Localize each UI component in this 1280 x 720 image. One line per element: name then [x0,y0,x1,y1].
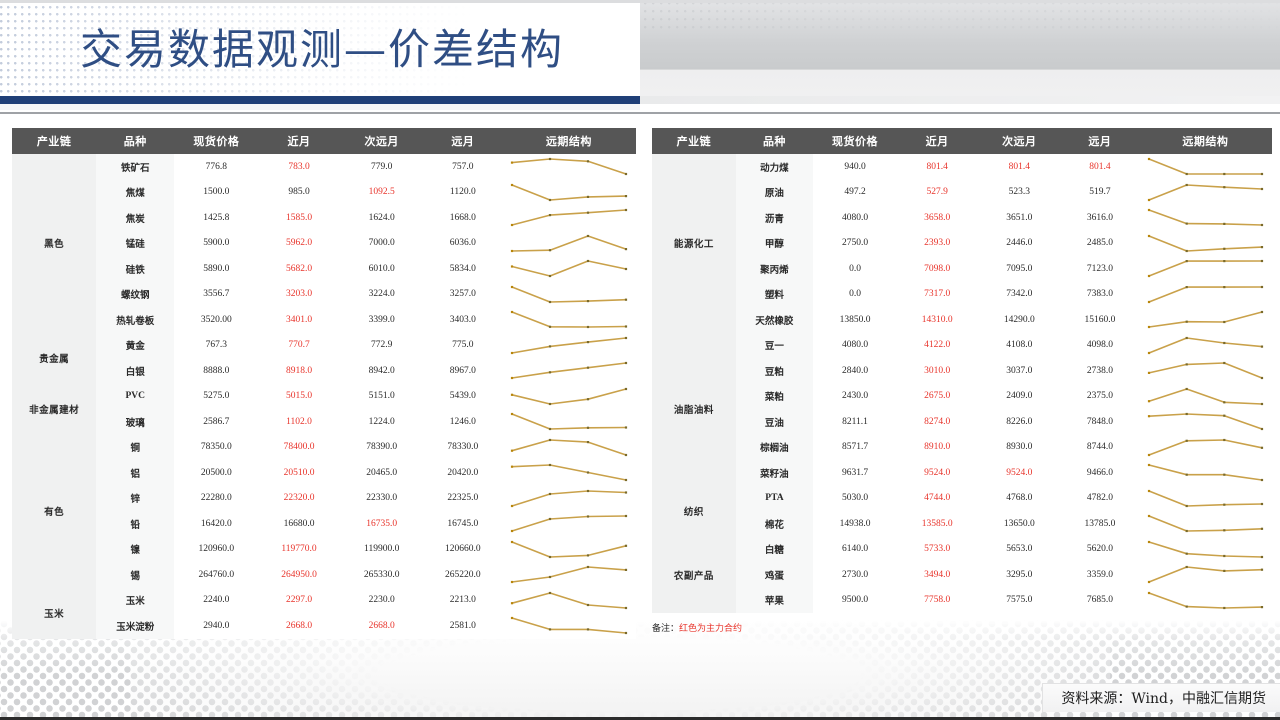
variety-cell: 玻璃 [96,409,174,435]
next-far-month-cell: 265330.0 [340,562,424,588]
forward-structure-sparkline [502,588,636,614]
far-month-cell: 3403.0 [424,307,502,333]
forward-structure-sparkline [1139,205,1272,231]
variety-cell: 玉米淀粉 [96,613,174,639]
far-month-cell: 78330.0 [424,435,502,461]
far-month-cell: 9466.0 [1061,460,1139,486]
table-row: 有色铜78350.078400.078390.078330.0 [12,435,636,461]
column-header-1: 品种 [736,128,814,154]
near-month-cell: 5015.0 [258,384,339,410]
next-far-month-cell: 5653.0 [977,537,1061,563]
variety-cell: 甲醇 [736,231,814,257]
spot-price-cell: 0.0 [813,282,897,308]
forward-structure-sparkline [502,613,636,639]
forward-structure-sparkline [502,562,636,588]
spot-price-cell: 3520.00 [174,307,258,333]
next-far-month-cell: 4768.0 [977,486,1061,512]
forward-structure-sparkline [502,256,636,282]
table-row: 焦煤1500.0985.01092.51120.0 [12,180,636,206]
next-far-month-cell: 7095.0 [977,256,1061,282]
table-row: 非金属建材PVC5275.05015.05151.05439.0 [12,384,636,410]
forward-structure-sparkline [502,358,636,384]
table-row: 玉米淀粉2940.02668.02668.02581.0 [12,613,636,639]
table-body-left: 黑色铁矿石776.8783.0779.0757.0焦煤1500.0985.010… [12,154,636,639]
right-price-table-panel: 产业链品种现货价格近月次远月远月远期结构 能源化工动力煤940.0801.480… [652,128,1272,613]
page-title: 交易数据观测—价差结构 [80,26,564,74]
table-row: 棕榈油8571.78910.08930.08744.0 [652,435,1272,461]
near-month-cell: 13585.0 [897,511,978,537]
near-month-cell: 985.0 [258,180,339,206]
far-month-cell: 5620.0 [1061,537,1139,563]
header-bottom-rule [0,112,1280,114]
next-far-month-cell: 2446.0 [977,231,1061,257]
far-month-cell: 7848.0 [1061,409,1139,435]
near-month-cell: 4744.0 [897,486,978,512]
variety-cell: 硅铁 [96,256,174,282]
near-month-cell: 3203.0 [258,282,339,308]
next-far-month-cell: 78390.0 [340,435,424,461]
spot-price-cell: 3556.7 [174,282,258,308]
spot-price-cell: 16420.0 [174,511,258,537]
column-header-5: 远月 [1061,128,1139,154]
near-month-cell: 8910.0 [897,435,978,461]
forward-structure-sparkline [1139,511,1272,537]
column-header-6: 远期结构 [1139,128,1272,154]
next-far-month-cell: 1092.5 [340,180,424,206]
forward-structure-sparkline [1139,282,1272,308]
near-month-cell: 527.9 [897,180,978,206]
variety-cell: 镍 [96,537,174,563]
forward-structure-sparkline [1139,256,1272,282]
far-month-cell: 265220.0 [424,562,502,588]
footnote-prefix: 备注： [652,623,679,633]
forward-structure-sparkline [1139,384,1272,410]
spot-price-cell: 497.2 [813,180,897,206]
variety-cell: 豆油 [736,409,814,435]
far-month-cell: 2738.0 [1061,358,1139,384]
table-row: 焦炭1425.81585.01624.01668.0 [12,205,636,231]
table-footnote: 备注：红色为主力合约 [652,621,742,634]
spot-price-cell: 2750.0 [813,231,897,257]
table-row: 白银8888.08918.08942.08967.0 [12,358,636,384]
next-far-month-cell: 8226.0 [977,409,1061,435]
column-header-3: 近月 [897,128,978,154]
variety-cell: 豆粕 [736,358,814,384]
industry-chain-cell: 能源化工 [652,154,736,333]
forward-structure-sparkline [502,180,636,206]
far-month-cell: 8744.0 [1061,435,1139,461]
far-month-cell: 5439.0 [424,384,502,410]
table-row: 热轧卷板3520.003401.03399.03403.0 [12,307,636,333]
far-month-cell: 22325.0 [424,486,502,512]
forward-structure-sparkline [502,205,636,231]
next-far-month-cell: 2230.0 [340,588,424,614]
table-row: 原油497.2527.9523.3519.7 [652,180,1272,206]
table-head-right: 产业链品种现货价格近月次远月远月远期结构 [652,128,1272,154]
next-far-month-cell: 3651.0 [977,205,1061,231]
forward-structure-sparkline [1139,154,1272,180]
table-row: 豆油8211.18274.08226.07848.0 [652,409,1272,435]
source-citation: 资料来源：Wind，中融汇信期货 [1042,683,1280,712]
next-far-month-cell: 801.4 [977,154,1061,180]
table-row: 油脂油料豆一4080.04122.04108.04098.0 [652,333,1272,359]
next-far-month-cell: 779.0 [340,154,424,180]
spot-price-cell: 5890.0 [174,256,258,282]
variety-cell: 菜粕 [736,384,814,410]
near-month-cell: 22320.0 [258,486,339,512]
next-far-month-cell: 6010.0 [340,256,424,282]
column-header-1: 品种 [96,128,174,154]
far-month-cell: 2375.0 [1061,384,1139,410]
price-structure-table-left: 产业链品种现货价格近月次远月远月远期结构 黑色铁矿石776.8783.0779.… [12,128,636,639]
near-month-cell: 2297.0 [258,588,339,614]
table-row: 天然橡胶13850.014310.014290.015160.0 [652,307,1272,333]
variety-cell: 菜籽油 [736,460,814,486]
variety-cell: 锡 [96,562,174,588]
variety-cell: 铜 [96,435,174,461]
near-month-cell: 3010.0 [897,358,978,384]
table-row: 黑色铁矿石776.8783.0779.0757.0 [12,154,636,180]
price-structure-table-right: 产业链品种现货价格近月次远月远月远期结构 能源化工动力煤940.0801.480… [652,128,1272,613]
far-month-cell: 2213.0 [424,588,502,614]
forward-structure-sparkline [1139,180,1272,206]
spot-price-cell: 2430.0 [813,384,897,410]
column-header-2: 现货价格 [813,128,897,154]
next-far-month-cell: 22330.0 [340,486,424,512]
next-far-month-cell: 3399.0 [340,307,424,333]
variety-cell: PVC [96,384,174,410]
next-far-month-cell: 523.3 [977,180,1061,206]
spot-price-cell: 940.0 [813,154,897,180]
forward-structure-sparkline [1139,409,1272,435]
near-month-cell: 3658.0 [897,205,978,231]
variety-cell: 铁矿石 [96,154,174,180]
forward-structure-sparkline [1139,486,1272,512]
far-month-cell: 1120.0 [424,180,502,206]
spot-price-cell: 78350.0 [174,435,258,461]
forward-structure-sparkline [1139,231,1272,257]
spot-price-cell: 2240.0 [174,588,258,614]
variety-cell: 原油 [736,180,814,206]
variety-cell: 豆一 [736,333,814,359]
slide-canvas: 交易数据观测—价差结构 产业链品种现货价格近月次远月远月远期结构 黑色铁矿石77… [0,0,1280,720]
forward-structure-sparkline [1139,537,1272,563]
forward-structure-sparkline [502,511,636,537]
variety-cell: 苹果 [736,588,814,614]
table-row: 能源化工动力煤940.0801.4801.4801.4 [652,154,1272,180]
far-month-cell: 3257.0 [424,282,502,308]
far-month-cell: 8967.0 [424,358,502,384]
forward-structure-sparkline [502,307,636,333]
table-head-left: 产业链品种现货价格近月次远月远月远期结构 [12,128,636,154]
near-month-cell: 5733.0 [897,537,978,563]
table-row: 镍120960.0119770.0119900.0120660.0 [12,537,636,563]
column-header-2: 现货价格 [174,128,258,154]
next-far-month-cell: 16735.0 [340,511,424,537]
table-row: 锡264760.0264950.0265330.0265220.0 [12,562,636,588]
variety-cell: 白银 [96,358,174,384]
table-row: 农副产品白糖6140.05733.05653.05620.0 [652,537,1272,563]
table-header-row: 产业链品种现货价格近月次远月远月远期结构 [652,128,1272,154]
next-far-month-cell: 14290.0 [977,307,1061,333]
forward-structure-sparkline [502,537,636,563]
far-month-cell: 16745.0 [424,511,502,537]
column-header-3: 近月 [258,128,339,154]
table-header-row: 产业链品种现货价格近月次远月远月远期结构 [12,128,636,154]
forward-structure-sparkline [1139,358,1272,384]
spot-price-cell: 2840.0 [813,358,897,384]
spot-price-cell: 2940.0 [174,613,258,639]
title-accent-bar-right [640,96,1280,104]
near-month-cell: 7098.0 [897,256,978,282]
far-month-cell: 3359.0 [1061,562,1139,588]
column-header-5: 远月 [424,128,502,154]
footnote-red-text: 红色为主力合约 [679,623,742,633]
industry-chain-cell: 有色 [12,435,96,588]
far-month-cell: 13785.0 [1061,511,1139,537]
variety-cell: 螺纹钢 [96,282,174,308]
next-far-month-cell: 3037.0 [977,358,1061,384]
near-month-cell: 3494.0 [897,562,978,588]
far-month-cell: 7123.0 [1061,256,1139,282]
near-month-cell: 4122.0 [897,333,978,359]
forward-structure-sparkline [1139,435,1272,461]
spot-price-cell: 8211.1 [813,409,897,435]
near-month-cell: 801.4 [897,154,978,180]
next-far-month-cell: 1624.0 [340,205,424,231]
spot-price-cell: 1425.8 [174,205,258,231]
industry-chain-cell: 农副产品 [652,537,736,614]
next-far-month-cell: 119900.0 [340,537,424,563]
variety-cell: 沥青 [736,205,814,231]
near-month-cell: 8918.0 [258,358,339,384]
next-far-month-cell: 772.9 [340,333,424,359]
near-month-cell: 264950.0 [258,562,339,588]
far-month-cell: 6036.0 [424,231,502,257]
table-row: 铅16420.016680.016735.016745.0 [12,511,636,537]
spot-price-cell: 22280.0 [174,486,258,512]
near-month-cell: 20510.0 [258,460,339,486]
forward-structure-sparkline [502,435,636,461]
variety-cell: 锌 [96,486,174,512]
industry-chain-cell: 非金属建材 [12,384,96,435]
variety-cell: 塑料 [736,282,814,308]
variety-cell: 动力煤 [736,154,814,180]
spot-price-cell: 8888.0 [174,358,258,384]
next-far-month-cell: 7575.0 [977,588,1061,614]
spot-price-cell: 2586.7 [174,409,258,435]
industry-chain-cell: 贵金属 [12,333,96,384]
near-month-cell: 16680.0 [258,511,339,537]
industry-chain-cell: 纺织 [652,486,736,537]
near-month-cell: 3401.0 [258,307,339,333]
table-row: 硅铁5890.05682.06010.05834.0 [12,256,636,282]
near-month-cell: 2393.0 [897,231,978,257]
far-month-cell: 519.7 [1061,180,1139,206]
table-row: 玉米玉米2240.02297.02230.02213.0 [12,588,636,614]
near-month-cell: 119770.0 [258,537,339,563]
forward-structure-sparkline [502,231,636,257]
far-month-cell: 4782.0 [1061,486,1139,512]
far-month-cell: 7383.0 [1061,282,1139,308]
near-month-cell: 8274.0 [897,409,978,435]
table-row: 锌22280.022320.022330.022325.0 [12,486,636,512]
spot-price-cell: 4080.0 [813,333,897,359]
column-header-0: 产业链 [652,128,736,154]
spot-price-cell: 1500.0 [174,180,258,206]
spot-price-cell: 8571.7 [813,435,897,461]
table-row: 菜粕2430.02675.02409.02375.0 [652,384,1272,410]
column-header-4: 次远月 [977,128,1061,154]
variety-cell: 焦煤 [96,180,174,206]
next-far-month-cell: 8930.0 [977,435,1061,461]
forward-structure-sparkline [502,282,636,308]
next-far-month-cell: 20465.0 [340,460,424,486]
spot-price-cell: 5275.0 [174,384,258,410]
variety-cell: 棕榈油 [736,435,814,461]
industry-chain-cell: 油脂油料 [652,333,736,486]
forward-structure-sparkline [1139,460,1272,486]
table-body-right: 能源化工动力煤940.0801.4801.4801.4原油497.2527.95… [652,154,1272,613]
next-far-month-cell: 7000.0 [340,231,424,257]
next-far-month-cell: 4108.0 [977,333,1061,359]
far-month-cell: 801.4 [1061,154,1139,180]
variety-cell: 白糖 [736,537,814,563]
spot-price-cell: 5030.0 [813,486,897,512]
title-underline-light [0,104,640,110]
header-top-rule [0,0,1280,3]
spot-price-cell: 20500.0 [174,460,258,486]
header-right-dot-texture [636,2,1280,32]
near-month-cell: 770.7 [258,333,339,359]
next-far-month-cell: 2668.0 [340,613,424,639]
industry-chain-cell: 玉米 [12,588,96,639]
variety-cell: 天然橡胶 [736,307,814,333]
spot-price-cell: 4080.0 [813,205,897,231]
table-row: 贵金属黄金767.3770.7772.9775.0 [12,333,636,359]
spot-price-cell: 13850.0 [813,307,897,333]
near-month-cell: 7317.0 [897,282,978,308]
variety-cell: 铅 [96,511,174,537]
table-row: 纺织PTA5030.04744.04768.04782.0 [652,486,1272,512]
far-month-cell: 1668.0 [424,205,502,231]
variety-cell: 黄金 [96,333,174,359]
spot-price-cell: 5900.0 [174,231,258,257]
far-month-cell: 757.0 [424,154,502,180]
forward-structure-sparkline [502,384,636,410]
next-far-month-cell: 3224.0 [340,282,424,308]
variety-cell: 锰硅 [96,231,174,257]
column-header-4: 次远月 [340,128,424,154]
variety-cell: 棉花 [736,511,814,537]
table-row: 铝20500.020510.020465.020420.0 [12,460,636,486]
variety-cell: 鸡蛋 [736,562,814,588]
variety-cell: 热轧卷板 [96,307,174,333]
industry-chain-cell: 黑色 [12,154,96,333]
spot-price-cell: 9631.7 [813,460,897,486]
forward-structure-sparkline [1139,307,1272,333]
column-header-6: 远期结构 [502,128,636,154]
next-far-month-cell: 7342.0 [977,282,1061,308]
forward-structure-sparkline [502,409,636,435]
spot-price-cell: 120960.0 [174,537,258,563]
next-far-month-cell: 1224.0 [340,409,424,435]
variety-cell: 玉米 [96,588,174,614]
variety-cell: PTA [736,486,814,512]
next-far-month-cell: 9524.0 [977,460,1061,486]
slide-header: 交易数据观测—价差结构 [0,0,1280,122]
far-month-cell: 2485.0 [1061,231,1139,257]
table-row: 棉花14938.013585.013650.013785.0 [652,511,1272,537]
near-month-cell: 5682.0 [258,256,339,282]
forward-structure-sparkline [1139,588,1272,614]
far-month-cell: 20420.0 [424,460,502,486]
spot-price-cell: 14938.0 [813,511,897,537]
table-row: 鸡蛋2730.03494.03295.03359.0 [652,562,1272,588]
next-far-month-cell: 3295.0 [977,562,1061,588]
next-far-month-cell: 5151.0 [340,384,424,410]
next-far-month-cell: 2409.0 [977,384,1061,410]
forward-structure-sparkline [502,460,636,486]
left-price-table-panel: 产业链品种现货价格近月次远月远月远期结构 黑色铁矿石776.8783.0779.… [12,128,636,639]
forward-structure-sparkline [502,486,636,512]
far-month-cell: 2581.0 [424,613,502,639]
table-row: 甲醇2750.02393.02446.02485.0 [652,231,1272,257]
far-month-cell: 3616.0 [1061,205,1139,231]
forward-structure-sparkline [1139,562,1272,588]
far-month-cell: 5834.0 [424,256,502,282]
forward-structure-sparkline [502,333,636,359]
spot-price-cell: 9500.0 [813,588,897,614]
variety-cell: 铝 [96,460,174,486]
near-month-cell: 1102.0 [258,409,339,435]
table-row: 沥青4080.03658.03651.03616.0 [652,205,1272,231]
table-row: 玻璃2586.71102.01224.01246.0 [12,409,636,435]
near-month-cell: 7758.0 [897,588,978,614]
spot-price-cell: 776.8 [174,154,258,180]
near-month-cell: 783.0 [258,154,339,180]
near-month-cell: 1585.0 [258,205,339,231]
near-month-cell: 2675.0 [897,384,978,410]
far-month-cell: 4098.0 [1061,333,1139,359]
table-row: 菜籽油9631.79524.09524.09466.0 [652,460,1272,486]
spot-price-cell: 2730.0 [813,562,897,588]
spot-price-cell: 6140.0 [813,537,897,563]
far-month-cell: 15160.0 [1061,307,1139,333]
table-row: 豆粕2840.03010.03037.02738.0 [652,358,1272,384]
far-month-cell: 1246.0 [424,409,502,435]
variety-cell: 焦炭 [96,205,174,231]
spot-price-cell: 0.0 [813,256,897,282]
far-month-cell: 775.0 [424,333,502,359]
forward-structure-sparkline [1139,333,1272,359]
far-month-cell: 7685.0 [1061,588,1139,614]
forward-structure-sparkline [502,154,636,180]
near-month-cell: 14310.0 [897,307,978,333]
near-month-cell: 78400.0 [258,435,339,461]
table-row: 塑料0.07317.07342.07383.0 [652,282,1272,308]
column-header-0: 产业链 [12,128,96,154]
next-far-month-cell: 13650.0 [977,511,1061,537]
near-month-cell: 9524.0 [897,460,978,486]
spot-price-cell: 767.3 [174,333,258,359]
next-far-month-cell: 8942.0 [340,358,424,384]
source-text: 资料来源：Wind，中融汇信期货 [1061,691,1266,707]
title-accent-bar [0,96,640,104]
table-row: 螺纹钢3556.73203.03224.03257.0 [12,282,636,308]
table-row: 聚丙烯0.07098.07095.07123.0 [652,256,1272,282]
table-row: 锰硅5900.05962.07000.06036.0 [12,231,636,257]
